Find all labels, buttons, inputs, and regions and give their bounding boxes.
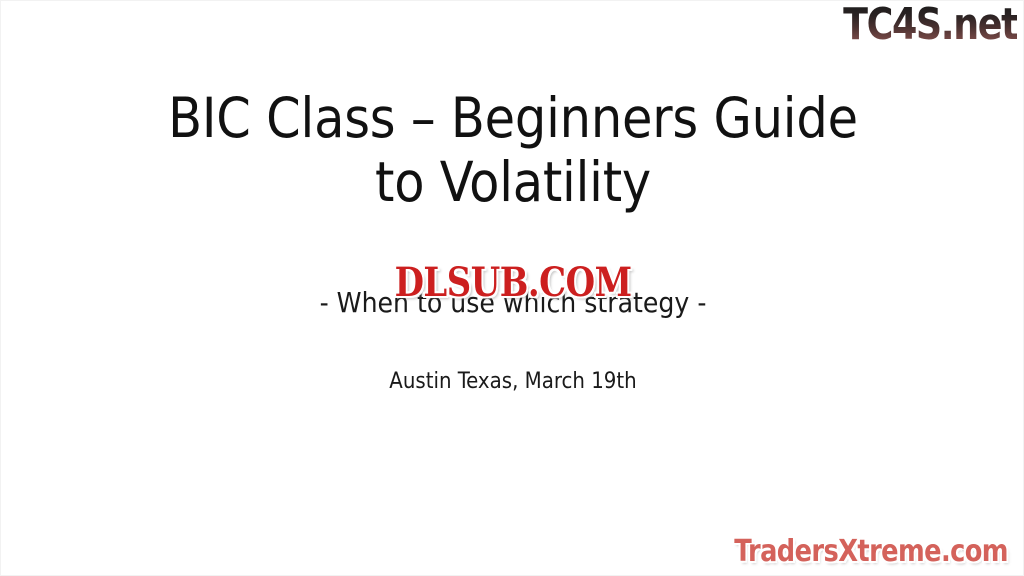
- tradersxtreme-watermark-text: TradersXtreme.com: [734, 534, 1008, 569]
- tradersxtreme-watermark: TradersXtreme.com: [727, 534, 1015, 569]
- presentation-slide: TC4S.net BIC Class – Beginners Guide to …: [0, 0, 1024, 576]
- tc4s-site-logo: TC4S.net: [843, 3, 1017, 47]
- page-title-line-1: BIC Class – Beginners Guide: [1, 87, 1024, 151]
- page-title-line-2: to Volatility: [1, 151, 1024, 215]
- event-location-date: Austin Texas, March 19th: [1, 369, 1024, 394]
- page-subtitle: - When to use which strategy -: [1, 286, 1024, 319]
- page-title: BIC Class – Beginners Guide to Volatilit…: [1, 87, 1024, 215]
